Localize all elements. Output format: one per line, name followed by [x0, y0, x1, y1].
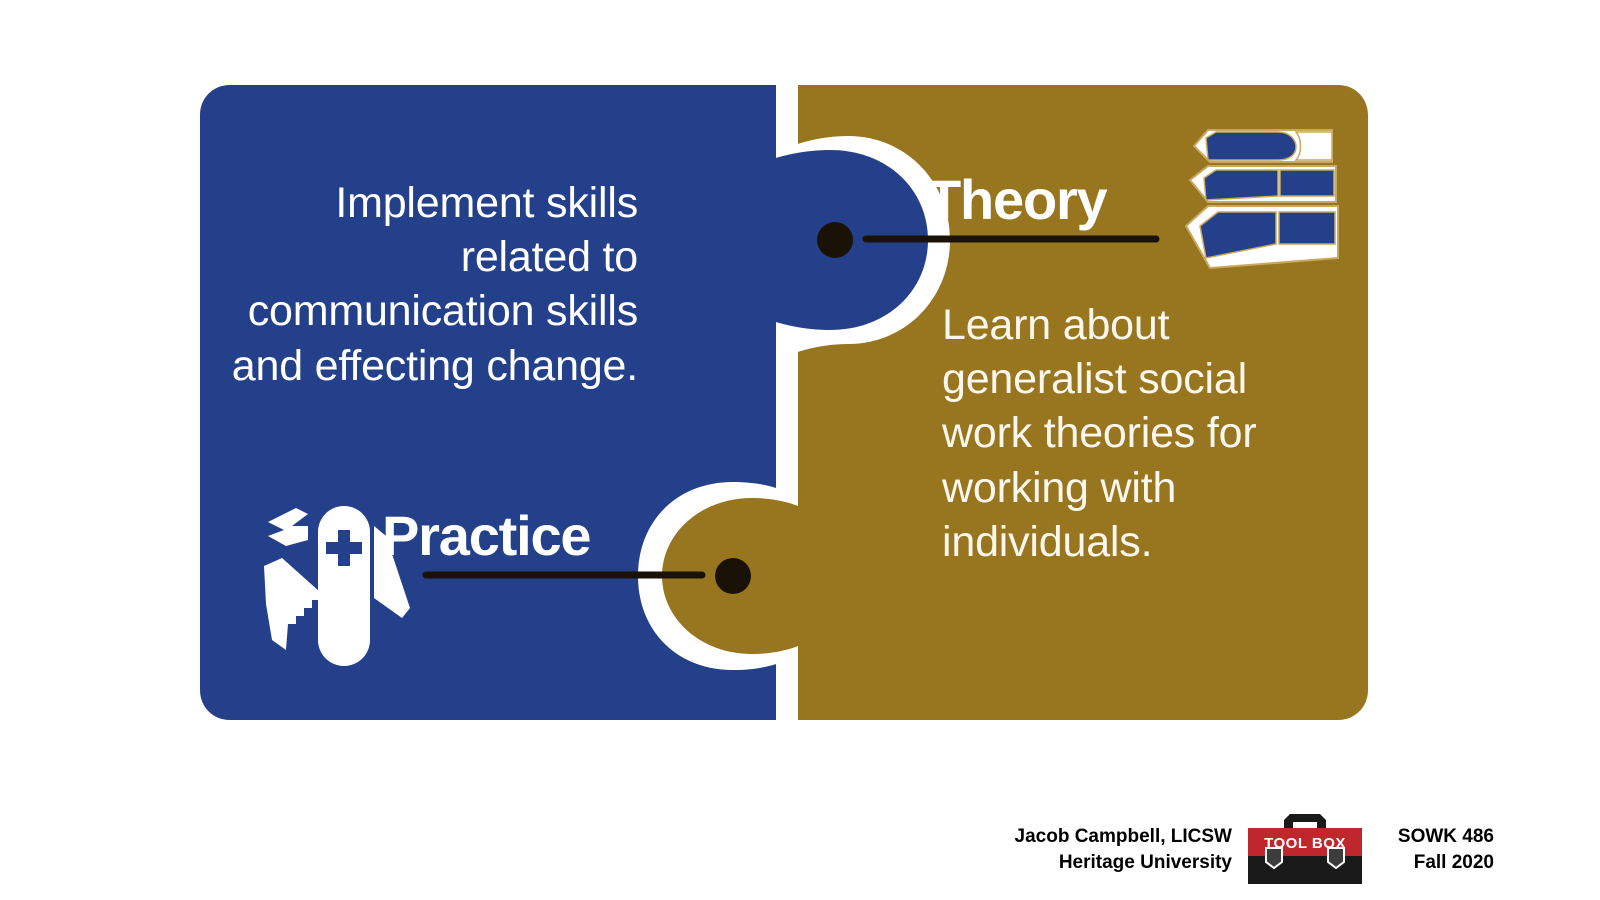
course-block: SOWK 486 Fall 2020	[1398, 824, 1494, 876]
presenter-institution: Heritage University	[1015, 850, 1232, 876]
presenter-block: Jacob Campbell, LICSW Heritage Universit…	[1015, 824, 1232, 876]
practice-description: Implement skills related to communicatio…	[228, 176, 638, 393]
puzzle-diagram: Implement skills related to communicatio…	[0, 0, 1600, 760]
toolbox-logo: TOOL BOX	[1240, 808, 1370, 886]
practice-title: Practice	[382, 503, 590, 568]
presenter-name: Jacob Campbell, LICSW	[1015, 824, 1232, 850]
theory-description: Learn about generalist social work theor…	[942, 298, 1314, 569]
practice-connector-dot	[715, 558, 751, 594]
theory-title: Theory	[927, 167, 1107, 232]
course-term: Fall 2020	[1398, 850, 1494, 876]
toolbox-handle-icon	[1284, 814, 1326, 828]
slide-footer: Jacob Campbell, LICSW Heritage Universit…	[0, 810, 1600, 890]
theory-connector-dot	[817, 222, 853, 258]
stacked-books-icon	[1186, 130, 1338, 268]
course-code: SOWK 486	[1398, 824, 1494, 850]
toolbox-wordmark: TOOL BOX	[1264, 835, 1346, 852]
